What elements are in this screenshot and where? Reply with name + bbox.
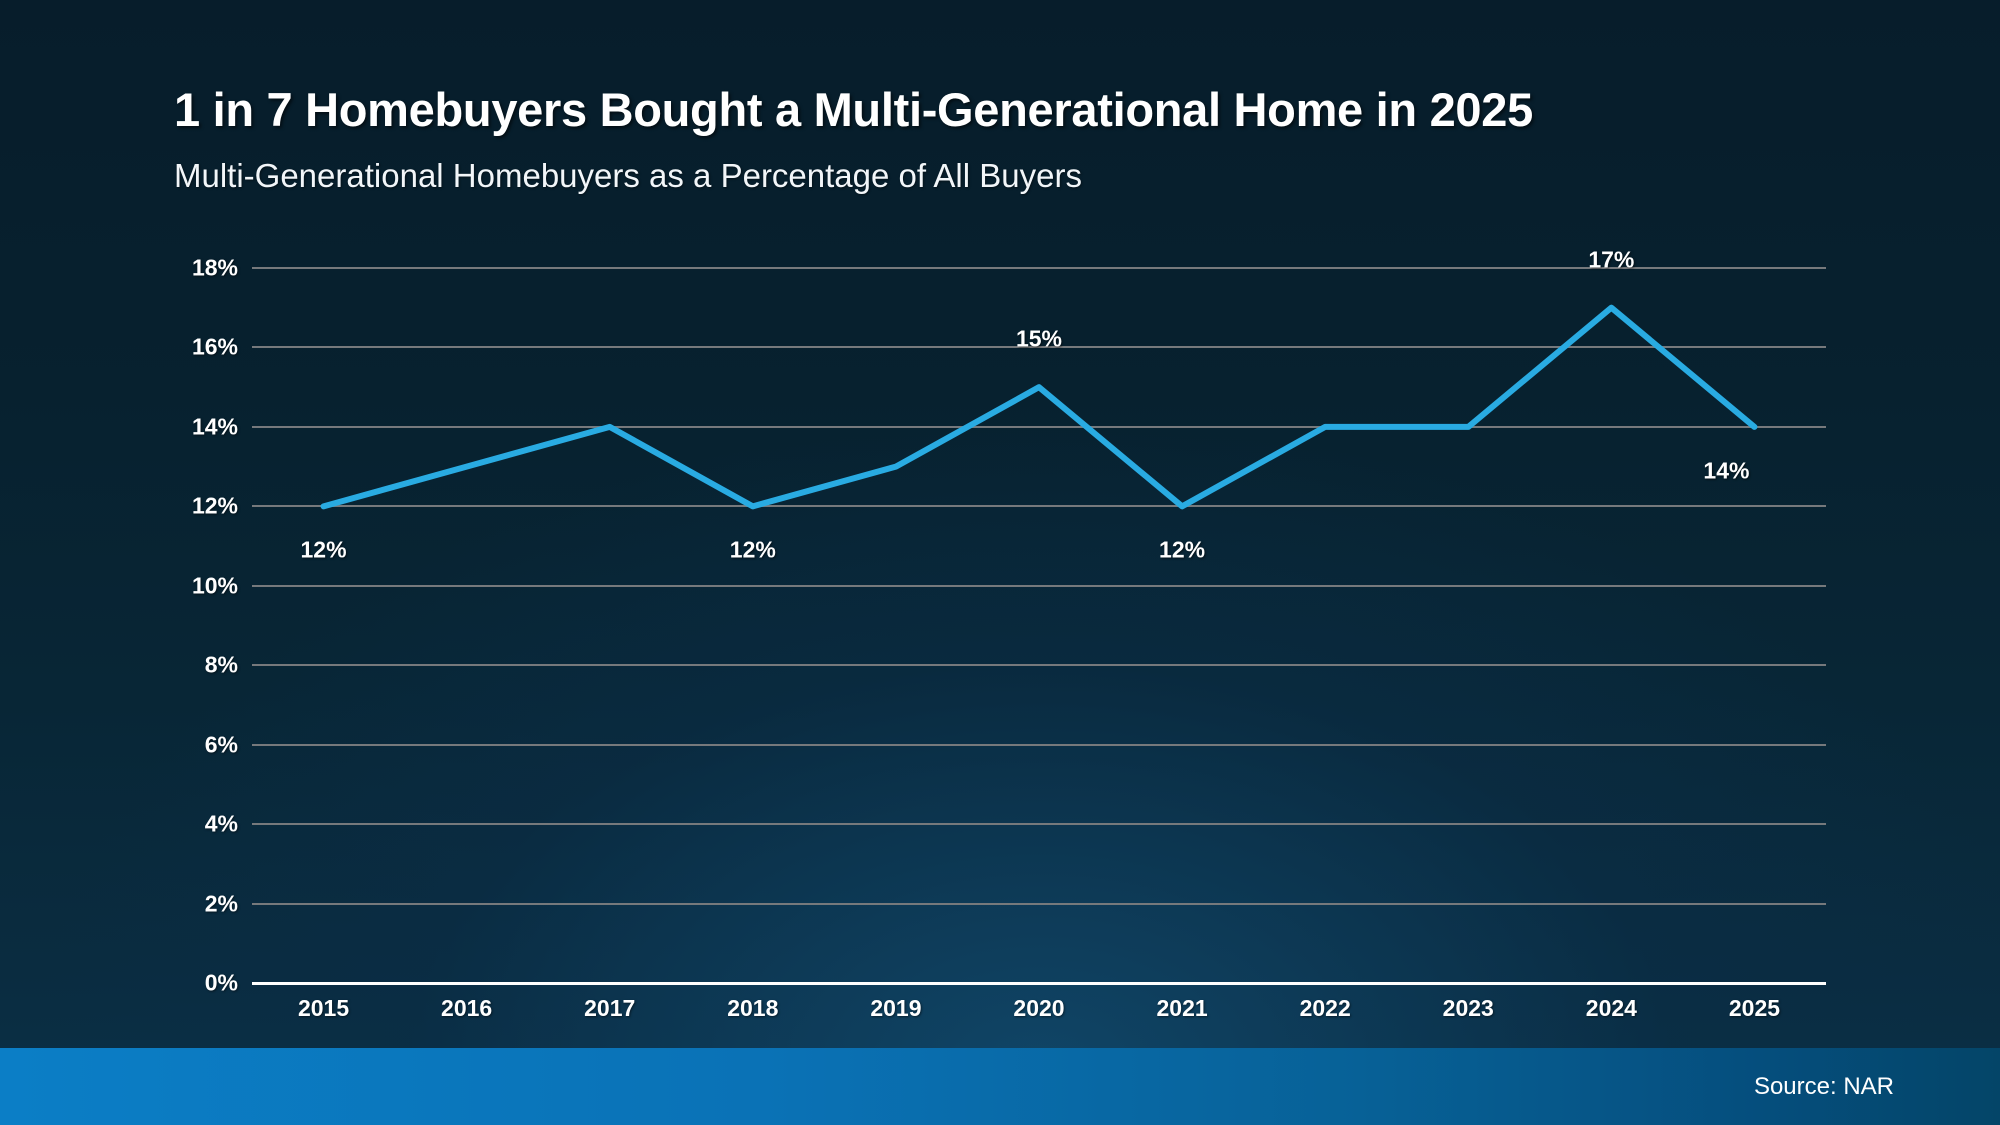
data-point-label: 12%: [301, 537, 347, 564]
x-tick-label: 2019: [870, 995, 921, 1022]
chart-header: 1 in 7 Homebuyers Bought a Multi-Generat…: [174, 82, 1874, 195]
data-point-label: 12%: [730, 537, 776, 564]
slide-canvas: 1 in 7 Homebuyers Bought a Multi-Generat…: [0, 0, 2000, 1125]
y-tick-label: 12%: [192, 493, 238, 520]
x-axis: 2015201620172018201920202021202220232024…: [252, 995, 1826, 1039]
data-point-label: 15%: [1016, 326, 1062, 353]
page-title: 1 in 7 Homebuyers Bought a Multi-Generat…: [174, 82, 1874, 137]
y-axis: 0%2%4%6%8%10%12%14%16%18%: [174, 268, 252, 983]
x-tick-label: 2022: [1300, 995, 1351, 1022]
y-tick-label: 0%: [205, 970, 238, 997]
footer-bar: Source: NAR: [0, 1048, 2000, 1125]
x-tick-label: 2023: [1443, 995, 1494, 1022]
x-tick-label: 2020: [1013, 995, 1064, 1022]
data-point-label: 12%: [1159, 537, 1205, 564]
y-tick-label: 4%: [205, 811, 238, 838]
x-tick-label: 2024: [1586, 995, 1637, 1022]
y-tick-label: 2%: [205, 890, 238, 917]
y-tick-label: 8%: [205, 652, 238, 679]
data-point-label: 17%: [1588, 246, 1634, 273]
y-tick-label: 14%: [192, 413, 238, 440]
x-tick-label: 2018: [727, 995, 778, 1022]
data-labels: 12%12%15%12%17%14%: [252, 268, 1826, 983]
y-tick-label: 16%: [192, 334, 238, 361]
x-tick-label: 2017: [584, 995, 635, 1022]
x-tick-label: 2021: [1156, 995, 1207, 1022]
x-tick-label: 2016: [441, 995, 492, 1022]
y-tick-label: 6%: [205, 731, 238, 758]
x-tick-label: 2015: [298, 995, 349, 1022]
source-attribution: Source: NAR: [1754, 1073, 1894, 1101]
y-tick-label: 18%: [192, 255, 238, 282]
chart-plot-area: 0%2%4%6%8%10%12%14%16%18% 12%12%15%12%17…: [174, 268, 1826, 983]
data-point-label: 14%: [1703, 457, 1749, 484]
x-tick-label: 2025: [1729, 995, 1780, 1022]
y-tick-label: 10%: [192, 572, 238, 599]
chart-subtitle: Multi-Generational Homebuyers as a Perce…: [174, 157, 1874, 195]
